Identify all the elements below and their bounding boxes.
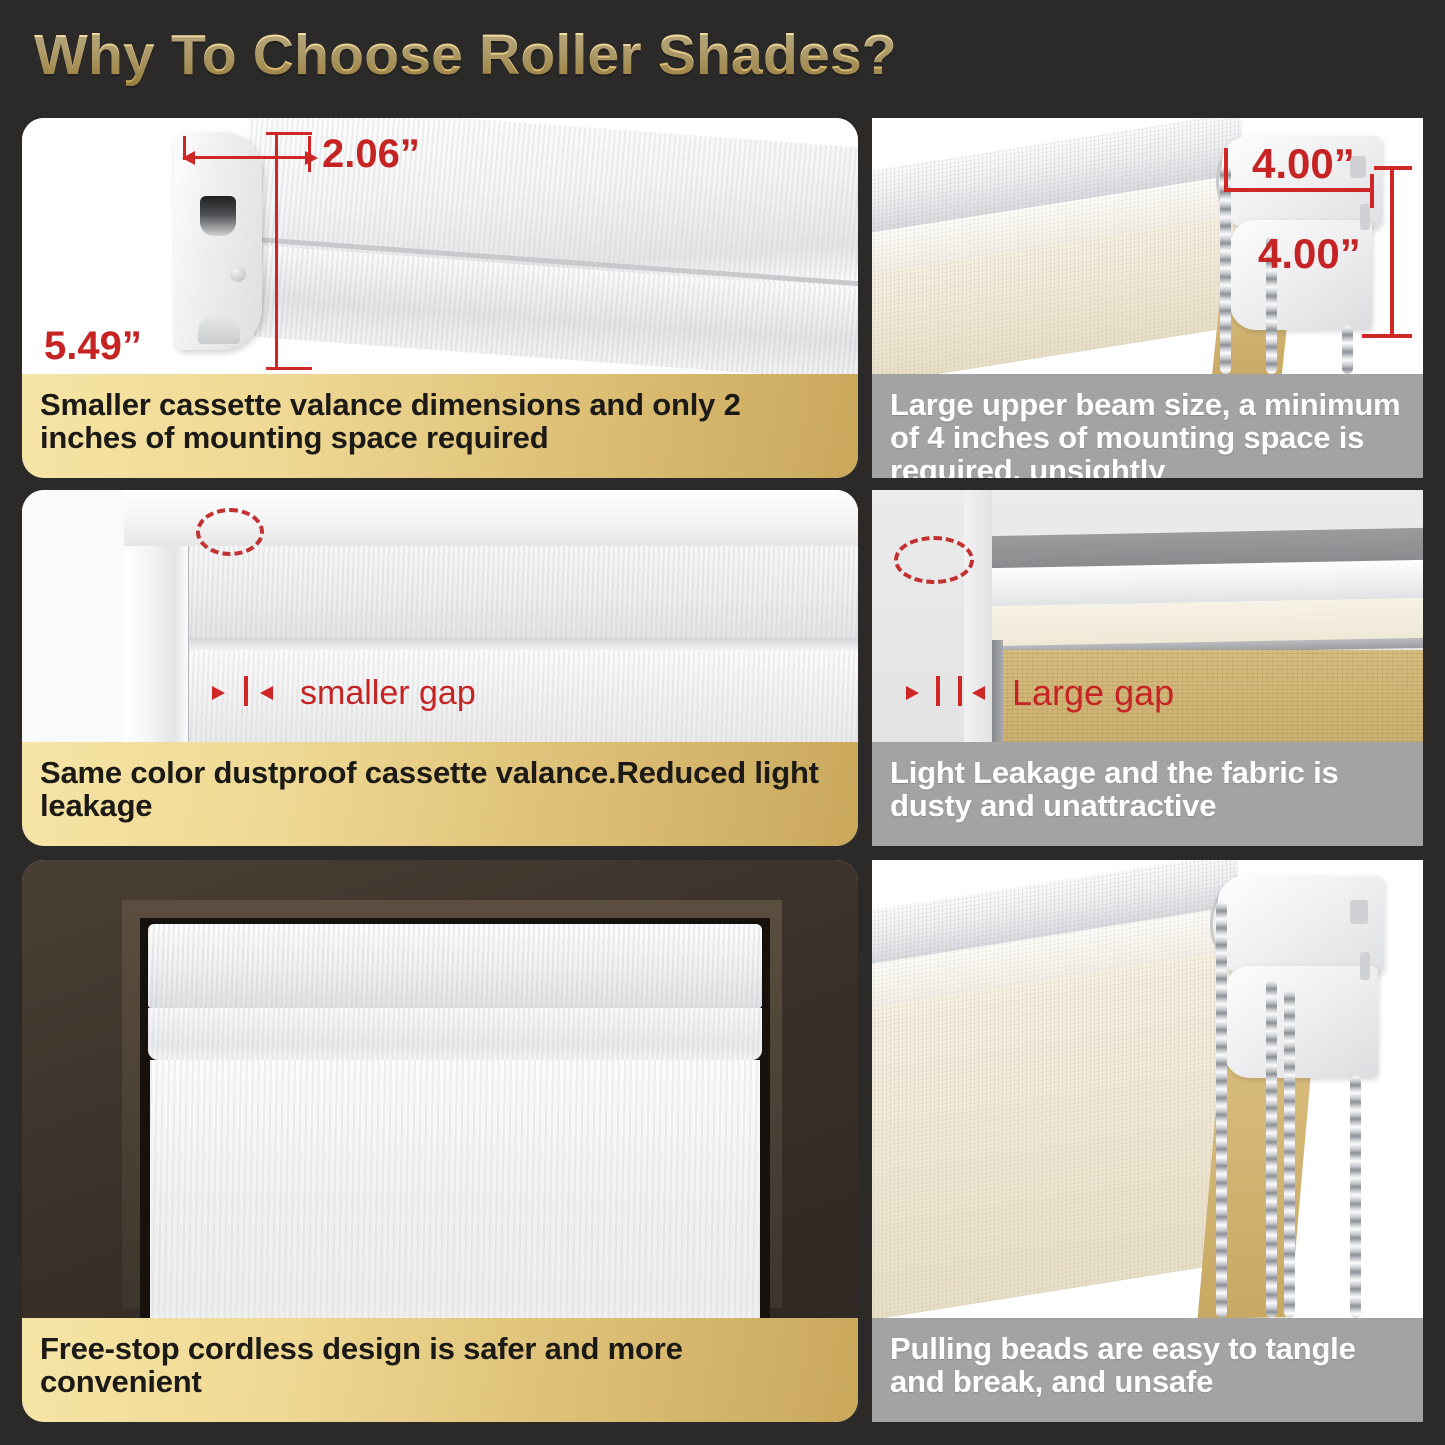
bead-chain-mid[interactable] — [1266, 980, 1277, 1318]
beam-height-dim-line — [1390, 166, 1394, 338]
height-dim-line — [275, 132, 278, 370]
valance-bottom-clip — [198, 314, 240, 344]
panel-pulling-beads: Pulling beads are easy to tangle and bre… — [872, 860, 1423, 1422]
beam-width-tick-left — [1224, 148, 1228, 192]
beam-height-label: 4.00” — [1258, 230, 1361, 278]
gap-arrow-right — [972, 686, 985, 700]
gap-tick-b — [958, 676, 962, 706]
panel-dustproof-valance: smaller gap Same color dustproof cassett… — [22, 490, 858, 846]
beam-width-label: 4.00” — [1252, 140, 1355, 188]
mounting-bracket-lower — [1224, 966, 1378, 1078]
panel-2-photo: 4.00” 4.00” — [872, 118, 1423, 374]
window-frame-left — [964, 490, 992, 742]
panel-1-caption: Smaller cassette valance dimensions and … — [22, 374, 858, 478]
width-dim-line — [188, 156, 310, 159]
bracket-notch-mid — [1360, 952, 1370, 980]
width-dim-tick-right — [308, 136, 311, 172]
panel-cordless-design: Free-stop cordless design is safer and m… — [22, 860, 858, 1422]
panel-smaller-cassette: 2.06” 5.49” Smaller cassette valance dim… — [22, 118, 858, 478]
bracket-notch-top — [1350, 900, 1368, 924]
panel-large-upper-beam: 4.00” 4.00” Large upper beam size, a min… — [872, 118, 1423, 478]
panel-4-caption: Light Leakage and the fabric is dusty an… — [872, 742, 1423, 846]
gap-tick-a — [936, 676, 940, 706]
highlight-circle — [894, 536, 974, 584]
height-dim-label: 5.49” — [44, 324, 142, 369]
cassette-valance-lip — [148, 1008, 762, 1060]
bead-chain-back[interactable] — [1284, 990, 1295, 1318]
gap-tick — [244, 676, 248, 706]
gap-arrow-left — [212, 686, 225, 700]
bead-chain-loop — [1342, 326, 1353, 374]
panel-5-photo — [22, 860, 858, 1318]
width-dim-tick-left — [183, 136, 186, 160]
gap-arrow-right — [260, 686, 273, 700]
panel-6-photo — [872, 860, 1423, 1318]
bead-chain-loop[interactable] — [1350, 1076, 1361, 1318]
infographic-page: Why To Choose Roller Shades? 2.06” 5.49” — [0, 0, 1445, 1445]
panel-6-caption: Pulling beads are easy to tangle and bre… — [872, 1318, 1423, 1422]
bead-chain-front[interactable] — [1216, 902, 1227, 1318]
bead-chain-front — [1220, 166, 1231, 374]
gap-arrow-left — [906, 686, 919, 700]
valance-screw — [230, 266, 246, 282]
panel-3-photo: smaller gap — [22, 490, 858, 742]
beam-width-tick-right — [1370, 174, 1374, 208]
beam-height-cap-top — [1374, 166, 1412, 170]
gap-label-large: Large gap — [1012, 672, 1174, 714]
highlight-circle — [196, 508, 264, 556]
width-dim-arrow-right — [305, 151, 318, 165]
panel-light-leakage: Large gap Light Leakage and the fabric i… — [872, 490, 1423, 846]
width-dim-label: 2.06” — [322, 132, 420, 177]
bracket-notch-mid — [1360, 204, 1370, 230]
panel-1-photo: 2.06” 5.49” — [22, 118, 858, 374]
beam-width-dim-line — [1226, 188, 1374, 192]
height-dim-cap-bottom — [266, 367, 312, 370]
cassette-valance — [148, 924, 762, 1008]
gap-label-small: smaller gap — [300, 674, 476, 713]
fabric-cream — [872, 950, 1238, 1318]
valance-rail — [188, 638, 858, 650]
panel-2-caption: Large upper beam size, a minimum of 4 in… — [872, 374, 1423, 478]
shade-fabric — [188, 650, 858, 742]
valance-slot — [200, 196, 236, 236]
panel-4-photo: Large gap — [872, 490, 1423, 742]
page-title: Why To Choose Roller Shades? — [34, 22, 897, 88]
shade-fabric — [150, 1060, 760, 1318]
panel-3-caption: Same color dustproof cassette valance.Re… — [22, 742, 858, 846]
beam-height-cap-bottom — [1362, 334, 1412, 338]
panel-5-caption: Free-stop cordless design is safer and m… — [22, 1318, 858, 1422]
height-dim-cap-top — [266, 132, 312, 135]
cassette-valance-face — [188, 544, 858, 640]
